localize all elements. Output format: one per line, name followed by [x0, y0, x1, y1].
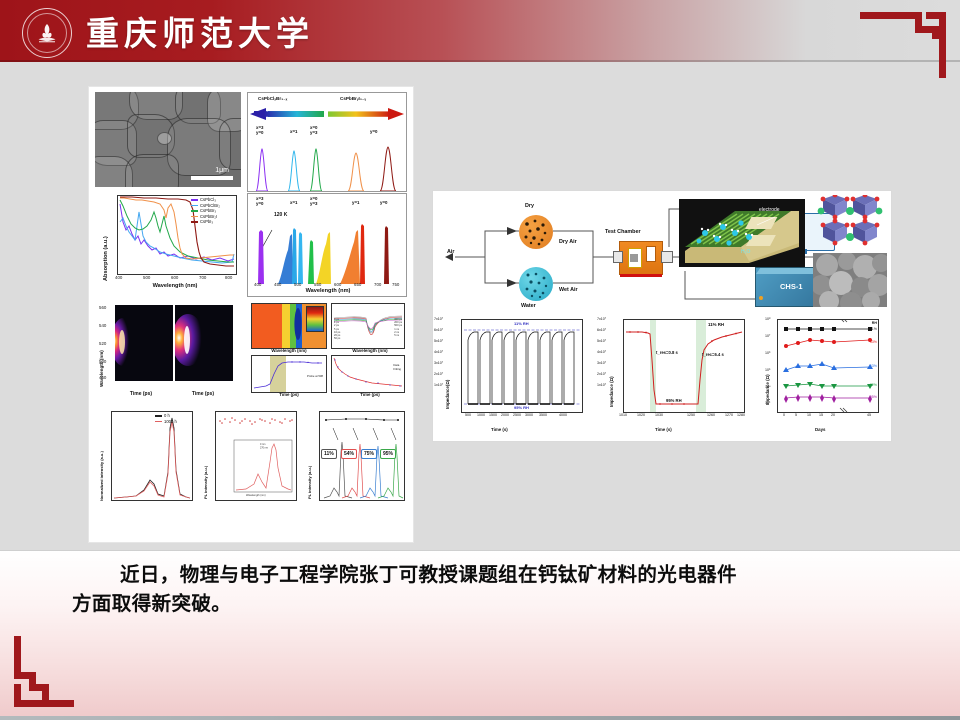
- test-chamber-label: Test Chamber: [605, 229, 641, 235]
- rr-xlabel: Time (s): [655, 427, 672, 432]
- ytick: 10³: [765, 401, 770, 405]
- ytick: 0: [611, 399, 613, 403]
- xtick: 500: [143, 275, 150, 280]
- series-label: 72%: [870, 383, 877, 387]
- air-inlet-label: Air: [447, 249, 455, 255]
- corner-ornament-top-right: [860, 8, 946, 78]
- perovskite-crystal-structure: [813, 195, 887, 251]
- ytick: 10⁶: [765, 351, 770, 355]
- cyclic-response-chart: 11% RH 95% RH: [461, 319, 583, 413]
- cyclic-ylabel: Impedance(Ω): [445, 380, 450, 409]
- xtick: 700: [199, 275, 206, 280]
- ytick: 520: [99, 341, 106, 346]
- percent-badge: 54%: [341, 449, 357, 459]
- xtick: 400: [254, 282, 261, 287]
- percent-badge: 75%: [361, 449, 377, 459]
- stability-percent-panel: PL intensity (a.u.) 11%: [303, 407, 407, 509]
- sem-image-panel: 1μm: [95, 92, 241, 187]
- ytick: 1x10⁷: [434, 383, 443, 387]
- series-label: 11%: [870, 327, 877, 331]
- xtick: 3000: [525, 413, 533, 417]
- xtick: 1260: [707, 413, 715, 417]
- xtick: 5: [795, 413, 797, 417]
- xtick: 1280: [737, 413, 745, 417]
- ytick: 5x10⁷: [434, 339, 443, 343]
- ytick: 10⁷: [765, 334, 770, 338]
- wet-air-label: Wet Air: [559, 287, 578, 293]
- response-recovery-chart: 11% RH 95% RH t_res=0.8 s t_rec=6.4 s: [623, 319, 745, 413]
- xtick: 0: [783, 413, 785, 417]
- xtick: 450: [274, 282, 281, 287]
- xtick: 1270: [725, 413, 733, 417]
- ytick: 4x10⁷: [597, 350, 606, 354]
- absorption-spectrum-panel: Absorption (a.u.) CsPbCl₃ CsPbClBr₂ CsPb…: [95, 191, 241, 297]
- xtick: 15: [819, 413, 823, 417]
- percent-badge: 95%: [380, 449, 396, 459]
- xtick: 1000: [477, 413, 485, 417]
- perovskite-optoelectronics-figure: 1μm Absorption (a.u.) CsPbCl₃ CsPbClBr₂ …: [88, 86, 414, 543]
- caption-line-1: 近日，物理与电子工程学院张丁可教授课题组在钙钛矿材料的光电器件: [120, 563, 737, 586]
- stability-scatter-panel: PL intensity (a.u.) Wavele: [199, 407, 299, 509]
- rr-rh-low: 95% RH: [666, 398, 682, 403]
- stability-ylabel-right: PL intensity (a.u.): [307, 466, 312, 499]
- xtick: 10: [807, 413, 811, 417]
- scale-bar: [191, 176, 233, 180]
- pl-room-temp-panel: CsPbClₓBr₃₋ₓ CsPbBrᵧI₃₋ᵧ x=3y=0 x=1: [247, 92, 407, 192]
- ta-xlabel-top: Wavelength (nm): [257, 348, 321, 353]
- scale-bar-label: 1μm: [215, 167, 229, 174]
- long-term-stability-chart: RH 11% 33% 63% 72% 95%: [777, 319, 879, 413]
- sensor-sem-image: [813, 253, 887, 307]
- xtick: 20: [831, 413, 835, 417]
- xtick: 750: [392, 282, 399, 287]
- svg-text:0 nm: 0 nm: [260, 443, 265, 446]
- xtick: 1250: [687, 413, 695, 417]
- water-label: Water: [521, 303, 536, 309]
- ytick: 500: [99, 359, 106, 364]
- ytick: 10⁸: [765, 317, 771, 321]
- ta-xlabel-top-2: Wavelength (nm): [341, 348, 399, 353]
- humidity-sensor-figure: Set : 20%RH Real : 20%RH CHS-1 Air Dry W…: [432, 190, 892, 442]
- rh-high-annotation: 11% RH: [514, 321, 529, 326]
- xtick: 400: [115, 275, 122, 280]
- xtick: 600: [334, 282, 341, 287]
- ytick: 3x10⁷: [434, 361, 443, 365]
- water-molecule-label: H₂O: [741, 249, 750, 255]
- rr-rh-high: 11% RH: [708, 322, 724, 327]
- recovery-time-label: t_rec=6.4 s: [702, 352, 724, 357]
- test-chamber-icon: [619, 241, 663, 275]
- series-label: 63%: [870, 364, 877, 368]
- ytick: 560: [99, 305, 106, 310]
- trpl-xlabel-2: Time (ps): [173, 391, 233, 397]
- xtick: 1020: [637, 413, 645, 417]
- series-label: 95%: [870, 395, 877, 399]
- ytick: 7x10⁷: [434, 317, 443, 321]
- xtick: 600: [171, 275, 178, 280]
- xtick: 3500: [539, 413, 547, 417]
- xtick: 550: [314, 282, 321, 287]
- water-reservoir-icon: [519, 267, 553, 301]
- xtick: 700: [374, 282, 381, 287]
- ytick: 3x10⁷: [597, 361, 606, 365]
- xtick: 1010: [619, 413, 627, 417]
- page-header: 重庆师范大学: [0, 0, 960, 62]
- chs-label: CHS-1: [780, 282, 803, 291]
- xtick: 500: [465, 413, 471, 417]
- slide-root: 重庆师范大学 1μm: [0, 0, 960, 720]
- ta-xlabel-bottom: Time (ps): [259, 392, 319, 397]
- ytick: 10⁴: [765, 385, 771, 389]
- ytick: 2x10⁷: [597, 372, 606, 376]
- cqnu-emblem-icon: [22, 8, 72, 58]
- ta-legend-fit: Fitting: [393, 367, 401, 371]
- trpl-xlabel-1: Time (ps): [111, 391, 171, 397]
- corner-ornament-bottom-left: [14, 636, 100, 712]
- absorption-legend: CsPbCl₃ CsPbClBr₂ CsPbBr₃ CsPbBr₂I CsPbI…: [191, 197, 220, 225]
- svg-text:270 nm: 270 nm: [260, 447, 268, 450]
- rh-legend-title: RH: [872, 321, 877, 325]
- ytick: 540: [99, 323, 106, 328]
- dry-label: Dry: [525, 203, 534, 209]
- slide-caption: 近日，物理与电子工程学院张丁可教授课题组在钙钛矿材料的光电器件 方面取得新突破。: [72, 560, 902, 618]
- dry-air-label: Dry Air: [559, 239, 577, 245]
- probe-legend: Probe at 538: [307, 374, 323, 378]
- stability-ylabel-mid: PL intensity (a.u.): [203, 466, 208, 499]
- stability-ylabel-left: Normalized intensity (a.u.): [99, 451, 104, 501]
- electrode-label: electrode: [759, 207, 780, 213]
- ytick: 1x10⁷: [597, 383, 606, 387]
- xtick: 800: [225, 275, 232, 280]
- xtick: 650: [354, 282, 361, 287]
- response-time-label: t_res=0.8 s: [656, 350, 678, 355]
- ytick: 10⁵: [765, 368, 771, 372]
- ytick: 460: [99, 375, 106, 380]
- absorption-ylabel: Absorption (a.u.): [103, 236, 109, 281]
- absorption-xlabel: Wavelength (nm): [125, 283, 225, 289]
- stability-0h-1000h-panel: Normalized intensity (a.u.) 0 h 1000 h: [95, 407, 195, 509]
- pl-low-temp-panel: x=3y=0 x=1 x=0y=3 y=1 y=0 120 K 400 450 …: [247, 193, 407, 297]
- trpl-map-panel: Wavelength (nm): [95, 301, 241, 401]
- xtick: 2500: [513, 413, 521, 417]
- caption-line-2: 方面取得新突破。: [72, 592, 231, 615]
- ytick: 5x10⁷: [597, 339, 606, 343]
- interdigitated-device-render: electrode H₂O: [679, 199, 805, 267]
- percent-badge: 11%: [321, 449, 337, 459]
- ytick: 2x10⁷: [434, 372, 443, 376]
- legend-label: CsPbI₃: [200, 219, 213, 225]
- stability-xlabel: Days: [815, 427, 826, 432]
- university-name: 重庆师范大学: [86, 4, 314, 58]
- transient-absorption-panel: Wavelength (nm) 0 ps1 ps2 ps5 ps10 ps20 …: [247, 301, 407, 401]
- ytick: 4x10⁷: [434, 350, 443, 354]
- ytick: 0: [447, 399, 449, 403]
- ytick: 6x10⁷: [434, 328, 443, 332]
- pl-xlabel: Wavelength (nm): [278, 288, 378, 294]
- trpl-ylabel: Wavelength (nm): [99, 350, 104, 387]
- xtick: 2000: [501, 413, 509, 417]
- dry-agent-icon: [519, 215, 553, 249]
- rh-low-annotation: 95% RH: [514, 405, 529, 410]
- cyclic-xlabel: Time (s): [491, 427, 508, 432]
- ytick: 7x10⁷: [597, 317, 606, 321]
- ta-xlabel-bottom-2: Time (ps): [341, 392, 399, 397]
- series-label: 33%: [870, 340, 877, 344]
- legend-1000h: 1000 h: [164, 419, 177, 425]
- ytick: 6x10⁷: [597, 328, 606, 332]
- xtick: 45: [867, 413, 871, 417]
- svg-text:Wavelength (nm): Wavelength (nm): [246, 493, 266, 497]
- xtick: 500: [294, 282, 301, 287]
- xtick: 1030: [655, 413, 663, 417]
- xtick: 4000: [559, 413, 567, 417]
- xtick: 1500: [489, 413, 497, 417]
